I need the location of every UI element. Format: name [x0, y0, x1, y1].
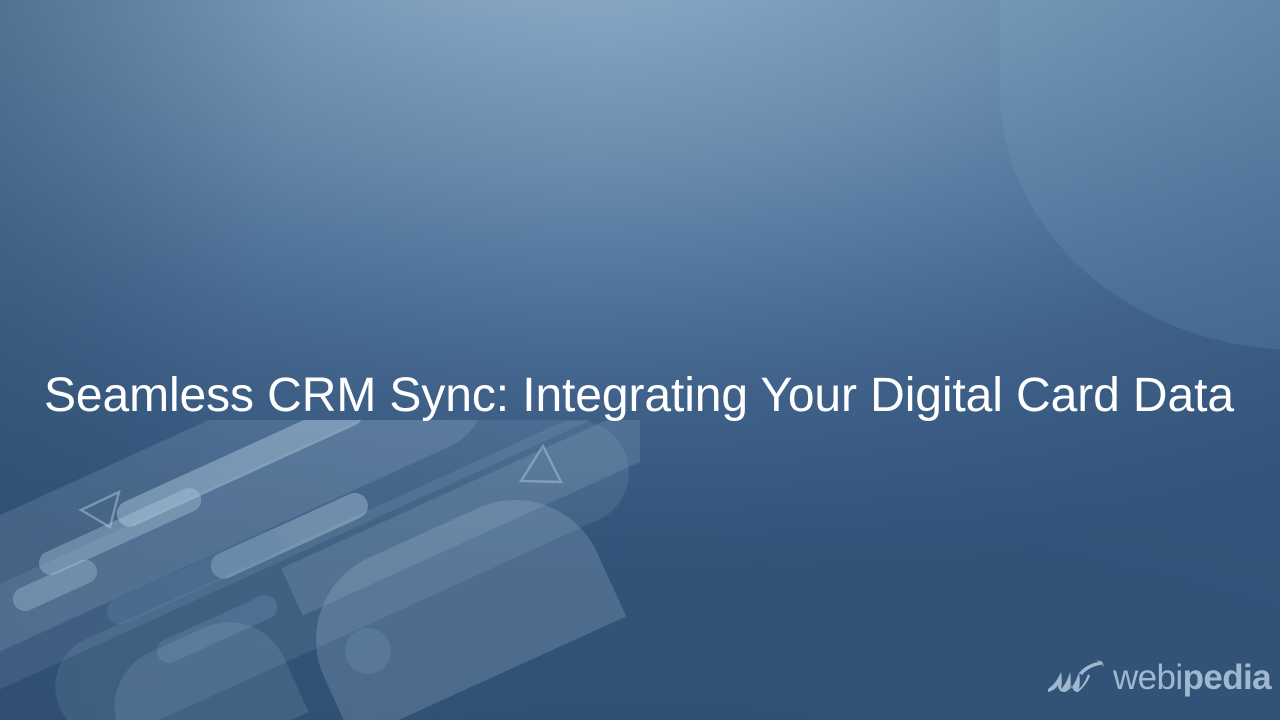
slide-title: Seamless CRM Sync: Integrating Your Digi…	[44, 368, 1244, 425]
outline-triangle-up-icon	[516, 442, 564, 490]
webipedia-wave-arrow-mark-icon	[1046, 659, 1108, 699]
brand-logo-wordmark: webipedia	[1113, 660, 1271, 698]
brand-logo-word-bold: pedia	[1183, 658, 1271, 697]
slide-canvas: Seamless CRM Sync: Integrating Your Digi…	[0, 0, 1280, 720]
decorative-shape-cluster	[0, 420, 640, 720]
brand-logo-word-light: webi	[1113, 658, 1183, 697]
brand-logo: webipedia	[1046, 652, 1258, 706]
outline-triangle-left-icon	[78, 486, 122, 530]
